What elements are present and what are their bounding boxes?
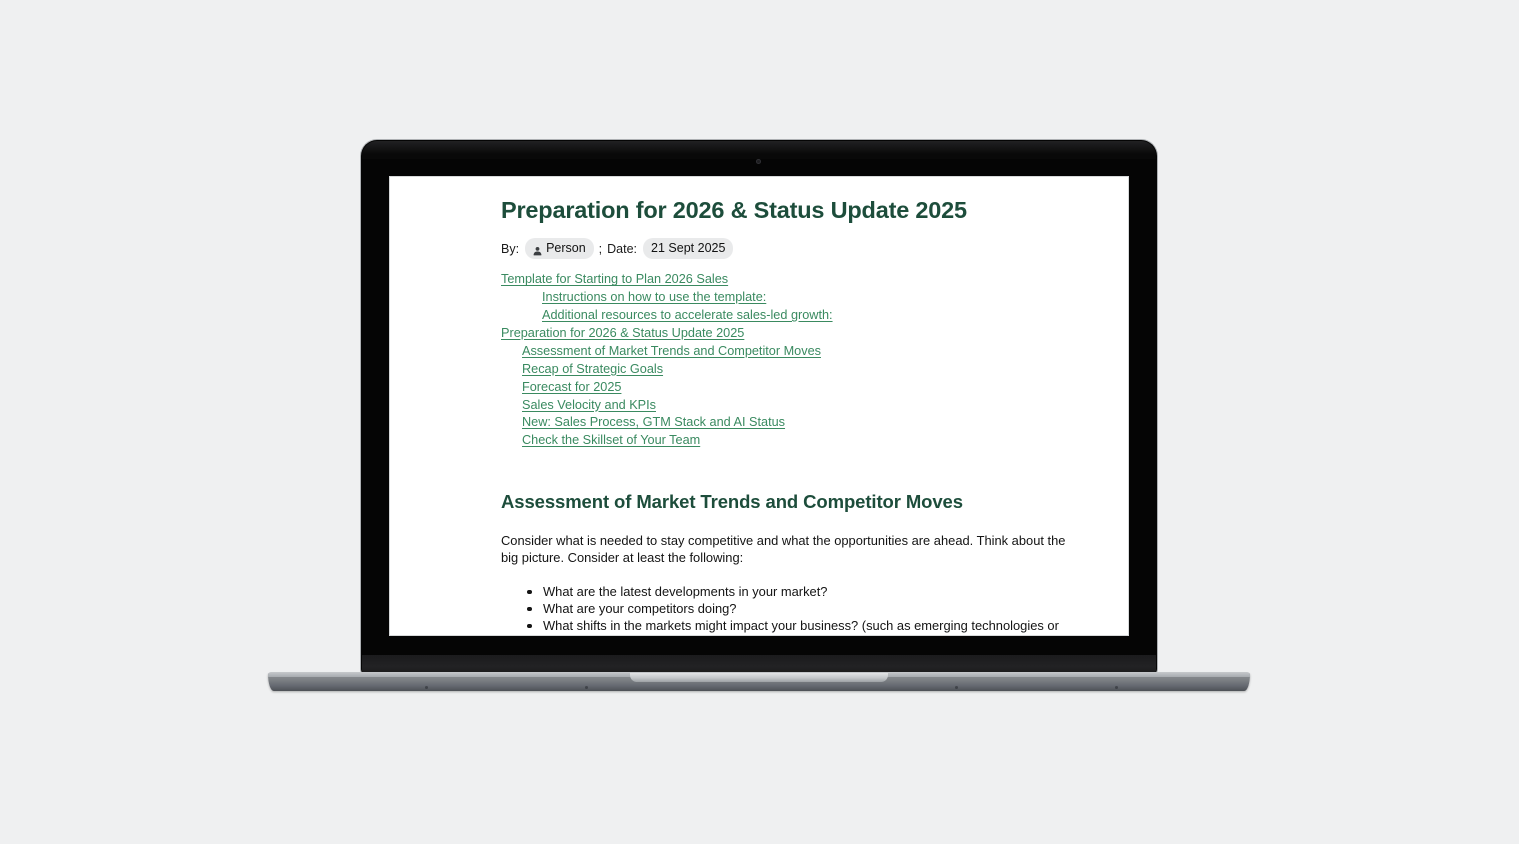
toc-link[interactable]: Preparation for 2026 & Status Update 202…	[501, 325, 744, 343]
list-item: What are the latest developments in your…	[501, 584, 1076, 601]
list-item: What are your competitors doing?	[501, 601, 1076, 618]
toc-link[interactable]: Forecast for 2025	[522, 379, 621, 397]
list-item: What shifts in the markets might impact …	[501, 618, 1076, 635]
date-value: 21 Sept 2025	[651, 239, 725, 257]
base-foot	[585, 686, 588, 689]
webcam-icon	[756, 159, 761, 164]
byline-date-label: Date:	[607, 240, 637, 258]
toc-link[interactable]: New: Sales Process, GTM Stack and AI Sta…	[522, 414, 785, 432]
section-paragraph: Consider what is needed to stay competit…	[501, 533, 1076, 567]
byline-separator: ;	[599, 240, 602, 258]
toc-link[interactable]: Assessment of Market Trends and Competit…	[522, 343, 821, 361]
laptop-screen: Preparation for 2026 & Status Update 202…	[390, 177, 1128, 635]
base-foot	[425, 686, 428, 689]
toc-link[interactable]: Additional resources to accelerate sales…	[542, 307, 833, 325]
byline-by-label: By:	[501, 240, 519, 258]
toc-link[interactable]: Sales Velocity and KPIs	[522, 397, 656, 415]
table-of-contents: Template for Starting to Plan 2026 Sales…	[501, 271, 1076, 450]
author-chip[interactable]: Person	[525, 238, 594, 259]
author-name: Person	[546, 239, 586, 257]
document-page: Preparation for 2026 & Status Update 202…	[390, 177, 1128, 635]
laptop-mockup: Preparation for 2026 & Status Update 202…	[0, 0, 1519, 844]
date-chip[interactable]: 21 Sept 2025	[643, 238, 733, 259]
toc-link[interactable]: Instructions on how to use the template:	[542, 289, 766, 307]
laptop-base-notch	[630, 673, 888, 682]
toc-link[interactable]: Template for Starting to Plan 2026 Sales	[501, 271, 728, 289]
toc-link[interactable]: Check the Skillset of Your Team	[522, 432, 700, 450]
section-bullet-list: What are the latest developments in your…	[501, 584, 1076, 635]
toc-link[interactable]: Recap of Strategic Goals	[522, 361, 663, 379]
page-title: Preparation for 2026 & Status Update 202…	[501, 196, 1076, 224]
document-byline: By: Person ; Date: 21 Sept 2025	[501, 238, 1076, 259]
section-heading: Assessment of Market Trends and Competit…	[501, 490, 1076, 513]
person-icon	[533, 243, 542, 253]
base-foot	[1115, 686, 1118, 689]
base-foot	[955, 686, 958, 689]
